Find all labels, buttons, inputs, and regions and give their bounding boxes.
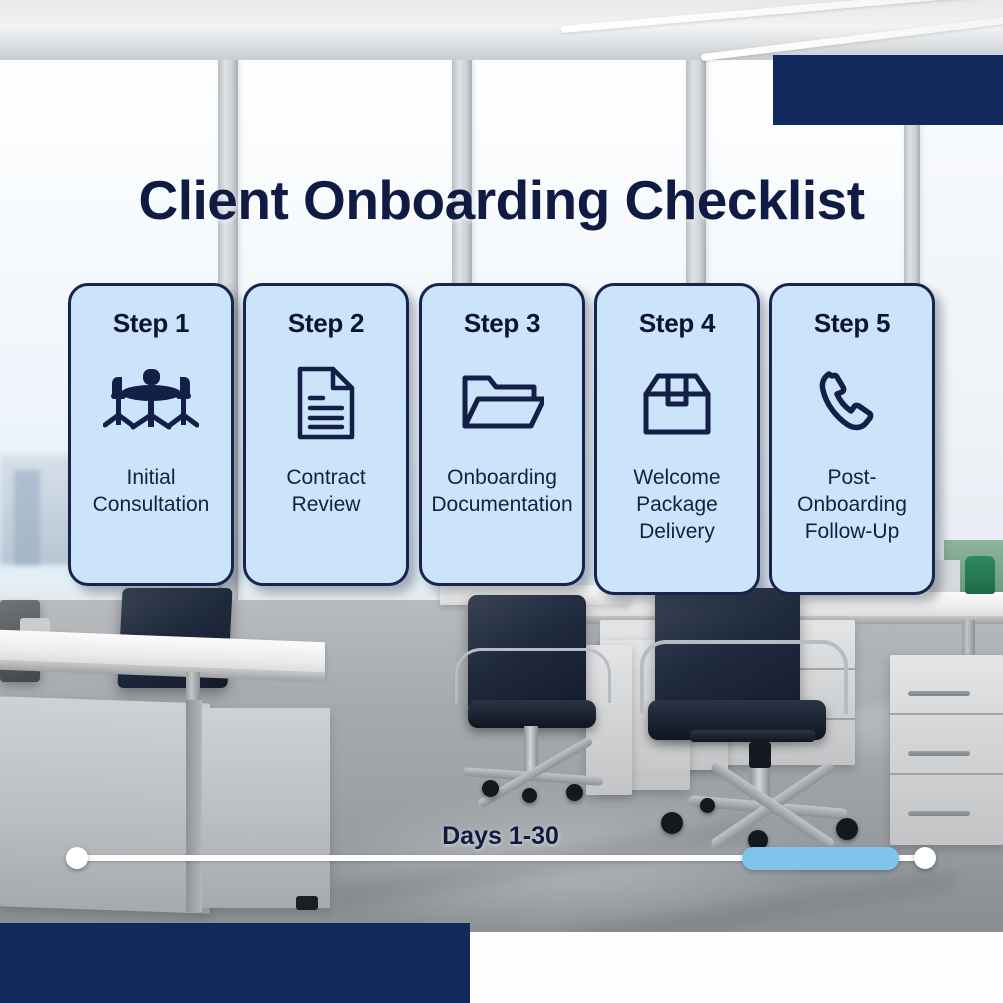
timeline-progress-segment[interactable] [742, 847, 899, 870]
timeline-label-text: Days 1-30 [442, 822, 559, 850]
timeline: Days 1-30 [0, 0, 1003, 1003]
infographic-poster: Client Onboarding Checklist Step 1 [0, 0, 1003, 1003]
timeline-start-dot[interactable] [66, 847, 88, 869]
timeline-end-dot[interactable] [914, 847, 936, 869]
